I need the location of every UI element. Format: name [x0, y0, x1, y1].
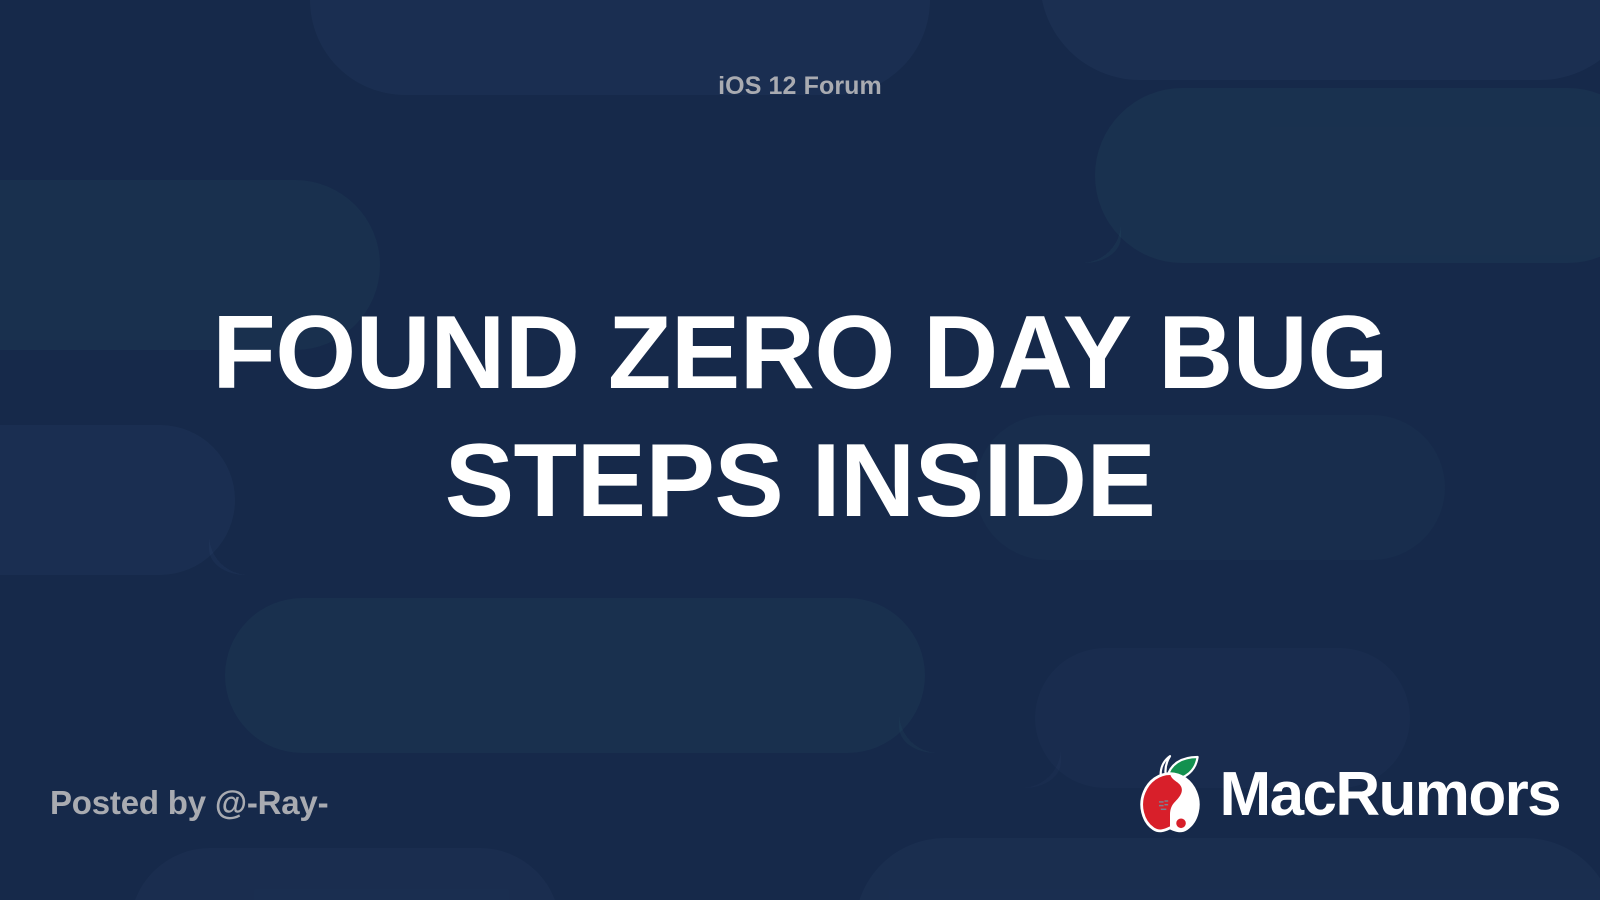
page-title-line-1: FOUND ZERO DAY BUG [212, 295, 1388, 411]
page-title-line-2: STEPS INSIDE [445, 423, 1156, 539]
macrumors-apple-icon [1124, 746, 1216, 838]
share-card: iOS 12 Forum FOUND ZERO DAY BUGSTEPS INS… [0, 0, 1600, 900]
forum-label: iOS 12 Forum [0, 72, 1600, 101]
question-mark-dot [1175, 817, 1187, 829]
macrumors-logo: MacRumors [1124, 746, 1560, 838]
page-title: FOUND ZERO DAY BUGSTEPS INSIDE [90, 290, 1510, 546]
card-content: iOS 12 Forum FOUND ZERO DAY BUGSTEPS INS… [0, 0, 1600, 900]
posted-by-attribution: Posted by @-Ray- [50, 784, 328, 822]
macrumors-wordmark: MacRumors [1220, 764, 1560, 826]
